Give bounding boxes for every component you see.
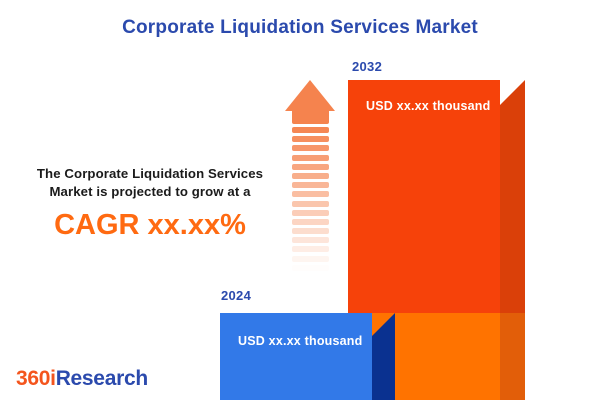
bar-2024-front-face xyxy=(220,313,372,400)
bar-year-label-2024: 2024 xyxy=(221,288,251,303)
page-title: Corporate Liquidation Services Market xyxy=(0,17,600,39)
bar-2024-side-face xyxy=(372,313,395,400)
arrow-stripe xyxy=(292,164,329,170)
arrow-shaft-stripes xyxy=(292,127,329,279)
arrow-stripe xyxy=(292,182,329,188)
arrow-stripe xyxy=(292,256,329,262)
logo-text-360: 360 xyxy=(16,367,50,390)
arrow-stripe xyxy=(292,201,329,207)
infographic-canvas: Corporate Liquidation Services Market Th… xyxy=(0,0,600,400)
arrow-stripe xyxy=(292,219,329,225)
cagr-caption-block: The Corporate Liquidation Services Marke… xyxy=(14,165,286,242)
bar-2024: USD xx.xx thousand xyxy=(220,313,395,400)
bar-year-label-2032: 2032 xyxy=(352,59,382,74)
growth-arrow-icon xyxy=(285,80,336,280)
caption-line-2: Market is projected to grow at a xyxy=(14,183,286,201)
brand-logo: 360iResearch xyxy=(16,367,148,391)
bar-2024-value-label: USD xx.xx thousand xyxy=(238,334,362,348)
arrow-stripe xyxy=(292,155,329,161)
arrow-stripe xyxy=(292,228,329,234)
bar-2032-side-face-lower xyxy=(500,313,525,400)
cagr-value: CAGR xx.xx% xyxy=(14,208,286,242)
arrow-stripe xyxy=(292,145,329,151)
arrow-stripe xyxy=(292,246,329,252)
arrow-neck xyxy=(292,111,329,124)
arrow-stripe xyxy=(292,210,329,216)
logo-text-research: Research xyxy=(56,367,148,390)
arrow-stripe xyxy=(292,191,329,197)
arrow-stripe xyxy=(292,265,329,271)
caption-line-1: The Corporate Liquidation Services xyxy=(14,165,286,183)
arrow-stripe xyxy=(292,237,329,243)
arrow-stripe xyxy=(292,136,329,142)
bar-2032-value-label: USD xx.xx thousand xyxy=(366,99,490,113)
arrow-stripe xyxy=(292,173,329,179)
arrow-stripe xyxy=(292,127,329,133)
arrow-head-icon xyxy=(285,80,335,111)
